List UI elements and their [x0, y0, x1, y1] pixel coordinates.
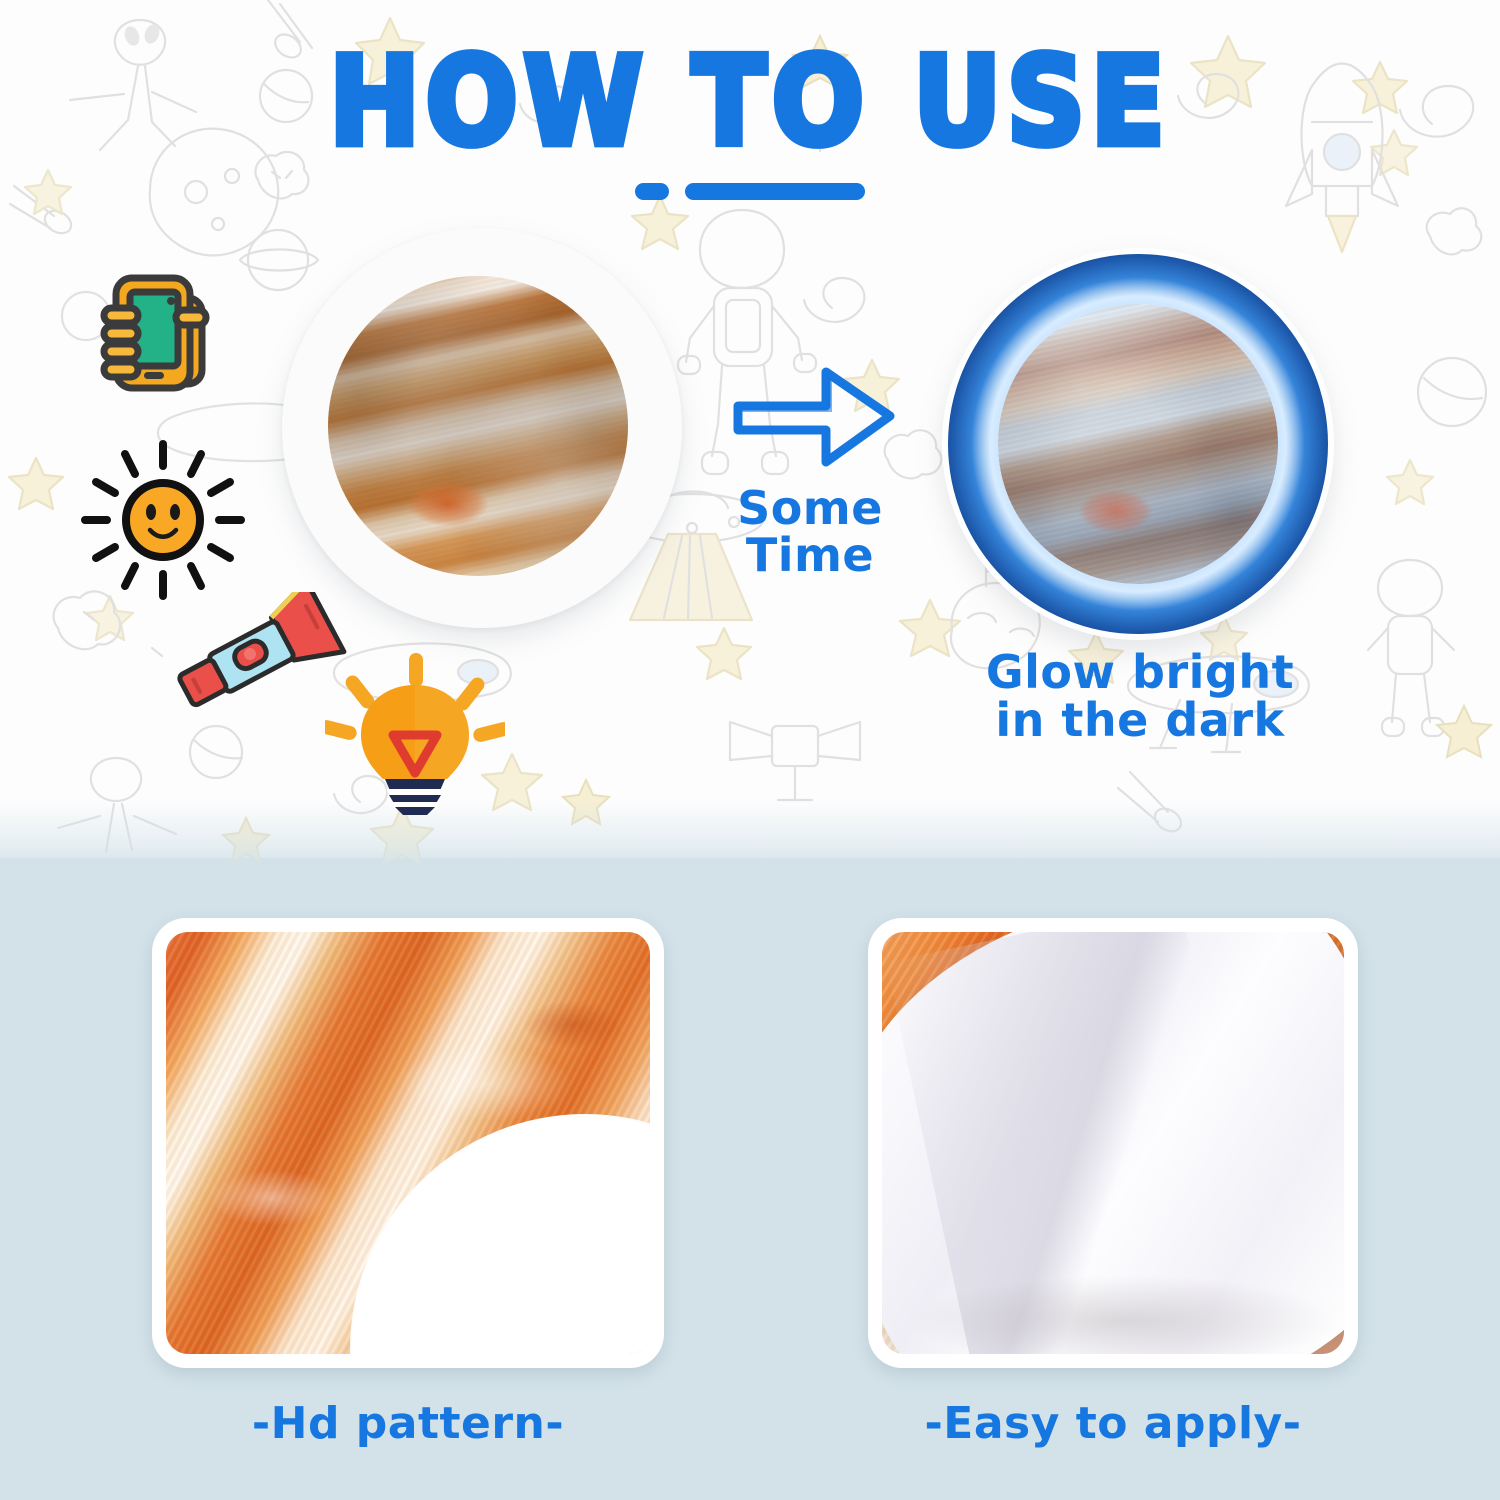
hd-pattern-caption: -Hd pattern- [152, 1398, 664, 1449]
jupiter-band-streaks-day [328, 276, 628, 576]
easy-to-apply-caption: -Easy to apply- [868, 1398, 1358, 1449]
jupiter-planet-day [328, 276, 628, 576]
glow-caption-line2: in the dark [960, 696, 1320, 744]
underline-dot [635, 183, 669, 200]
jupiter-sticker-daylight [282, 228, 682, 628]
glow-caption: Glow bright in the dark [960, 648, 1320, 745]
right-arrow-icon [730, 358, 900, 483]
top-section: HOW TO USE [0, 0, 1500, 865]
jupiter-planet-night [998, 304, 1278, 584]
hd-pattern-panel [152, 918, 664, 1368]
easy-to-apply-panel [868, 918, 1358, 1368]
backing-shadow [916, 1276, 1336, 1354]
arrow-caption-line1: Some [690, 485, 930, 532]
jupiter-sticker-glowing [942, 248, 1334, 640]
arrow-caption-line2: Time [690, 532, 930, 579]
page-title-wrap: HOW TO USE [0, 46, 1500, 159]
arrow-caption: Some Time [690, 485, 930, 579]
hd-pattern-image [166, 932, 650, 1354]
title-underline [0, 178, 1500, 204]
underline-bar [685, 183, 865, 200]
lightbulb-icon [325, 645, 505, 820]
infographic-page: HOW TO USE [0, 0, 1500, 1500]
glow-caption-line1: Glow bright [960, 648, 1320, 696]
jupiter-band-streaks-night [998, 304, 1278, 584]
page-title: HOW TO USE [329, 39, 1170, 166]
section-divider-fade [0, 800, 1500, 870]
phone-icon [78, 268, 228, 413]
peel-scene [882, 932, 1344, 1354]
peel-backing-image [882, 932, 1344, 1354]
sun-icon [68, 432, 258, 617]
